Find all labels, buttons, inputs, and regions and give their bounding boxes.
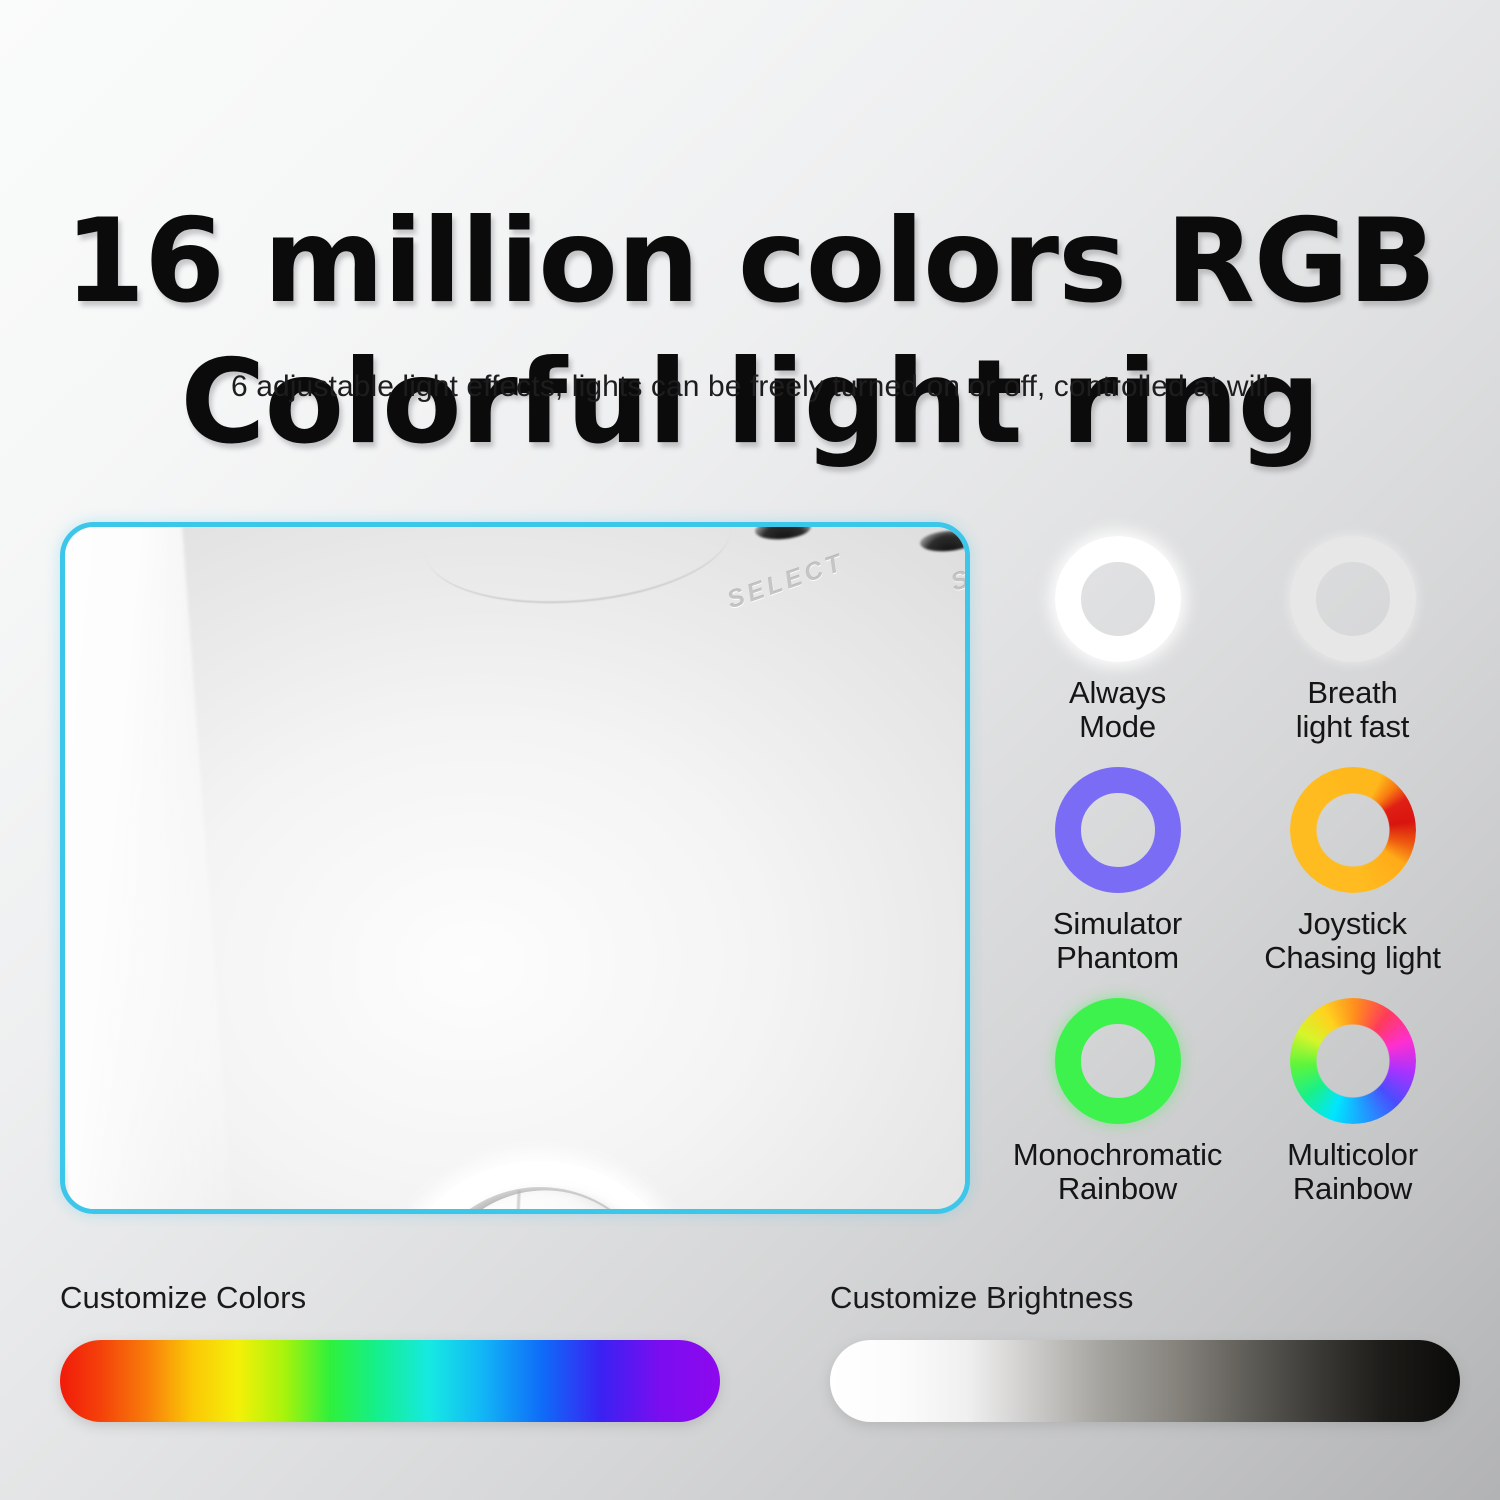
light-effect-simulator-phantom[interactable]: Simulator Phantom [1000, 767, 1235, 976]
product-photo: SELECT ST [60, 522, 970, 1214]
light-effect-label: Multicolor Rainbow [1287, 1138, 1418, 1207]
customize-brightness-block: Customize Brightness [830, 1280, 1460, 1422]
ring-icon-chasing [1290, 767, 1416, 893]
light-effect-monochromatic-rainbow[interactable]: Monochromatic Rainbow [1000, 998, 1235, 1207]
light-effect-label: Simulator Phantom [1053, 907, 1182, 976]
light-effect-breath-light-fast[interactable]: Breath light fast [1235, 536, 1470, 745]
ring-icon-phantom [1055, 767, 1181, 893]
page-subtitle: 6 adjustable light effects, lights can b… [0, 370, 1500, 404]
ring-icon-breath [1290, 536, 1416, 662]
light-effects-row-1: Always Mode Breath light fast [1000, 536, 1470, 745]
light-effects-row-2: Simulator Phantom Joystick Chasing light [1000, 767, 1470, 976]
ring-icon-always [1055, 536, 1181, 662]
light-effect-label: Always Mode [1069, 676, 1166, 745]
page-title-line-1: 16 million colors RGB [65, 194, 1436, 329]
light-effect-label: Joystick Chasing light [1264, 907, 1441, 976]
light-effects-row-3: Monochromatic Rainbow Multicolor Rainbow [1000, 998, 1470, 1207]
light-effect-label: Breath light fast [1296, 676, 1409, 745]
color-slider[interactable] [60, 1340, 720, 1422]
light-effect-label: Monochromatic Rainbow [1013, 1138, 1222, 1207]
light-effect-always-mode[interactable]: Always Mode [1000, 536, 1235, 745]
brightness-slider[interactable] [830, 1340, 1460, 1422]
ring-icon-multi [1290, 998, 1416, 1124]
customize-colors-title: Customize Colors [60, 1280, 720, 1316]
light-effect-joystick-chasing-light[interactable]: Joystick Chasing light [1235, 767, 1470, 976]
light-effect-multicolor-rainbow[interactable]: Multicolor Rainbow [1235, 998, 1470, 1207]
product-photo-inner: SELECT ST [65, 527, 965, 1209]
light-effects-grid: Always Mode Breath light fast Simulator … [1000, 536, 1470, 1206]
ring-icon-mono [1055, 998, 1181, 1124]
customize-brightness-title: Customize Brightness [830, 1280, 1460, 1316]
customize-colors-block: Customize Colors [60, 1280, 720, 1422]
